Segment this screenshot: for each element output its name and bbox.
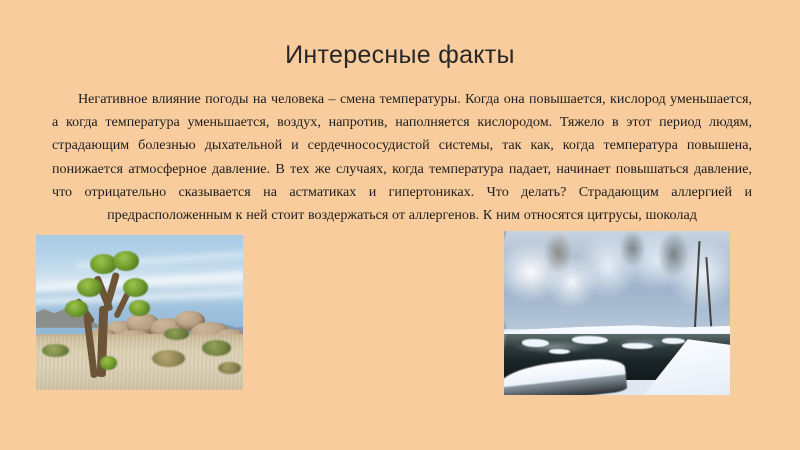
desert-photo-inner — [36, 235, 243, 390]
body-text-block: Негативное влияние погоды на человека – … — [52, 88, 752, 227]
winter-ice-chunk — [572, 336, 608, 344]
joshua-tree-foliage — [123, 278, 148, 297]
desert-joshua-tree-photo — [36, 235, 243, 390]
winter-river-photo — [504, 231, 730, 395]
winter-ice-chunk — [549, 349, 569, 354]
presentation-slide: Интересные факты Негативное влияние пого… — [0, 0, 800, 450]
winter-ice-chunk — [662, 338, 685, 345]
joshua-tree-foliage — [65, 300, 88, 317]
page-title: Интересные факты — [0, 40, 800, 70]
joshua-tree-basal-shoot — [100, 356, 117, 370]
body-paragraph: Негативное влияние погоды на человека – … — [52, 88, 752, 227]
winter-ice-chunk — [622, 343, 654, 350]
joshua-tree-foliage — [129, 300, 150, 316]
winter-photo-inner — [504, 231, 730, 395]
desert-shrub — [202, 340, 231, 356]
joshua-tree-foliage — [113, 251, 140, 271]
desert-shrub — [152, 350, 185, 367]
